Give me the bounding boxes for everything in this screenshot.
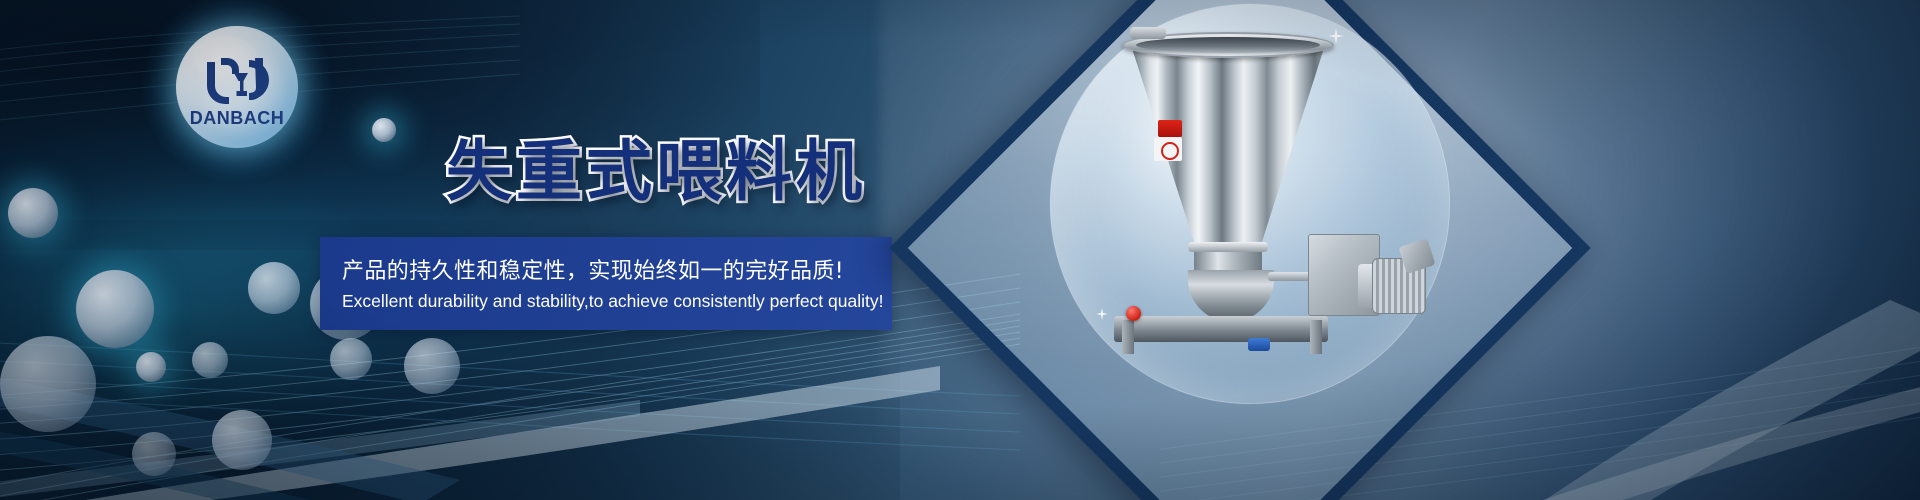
product-banner: DANBACH 失重式喂料机 产品的持久性和稳定性，实现始终如一的完好品质! E…	[0, 0, 1920, 500]
vignette-overlay	[0, 0, 1920, 500]
